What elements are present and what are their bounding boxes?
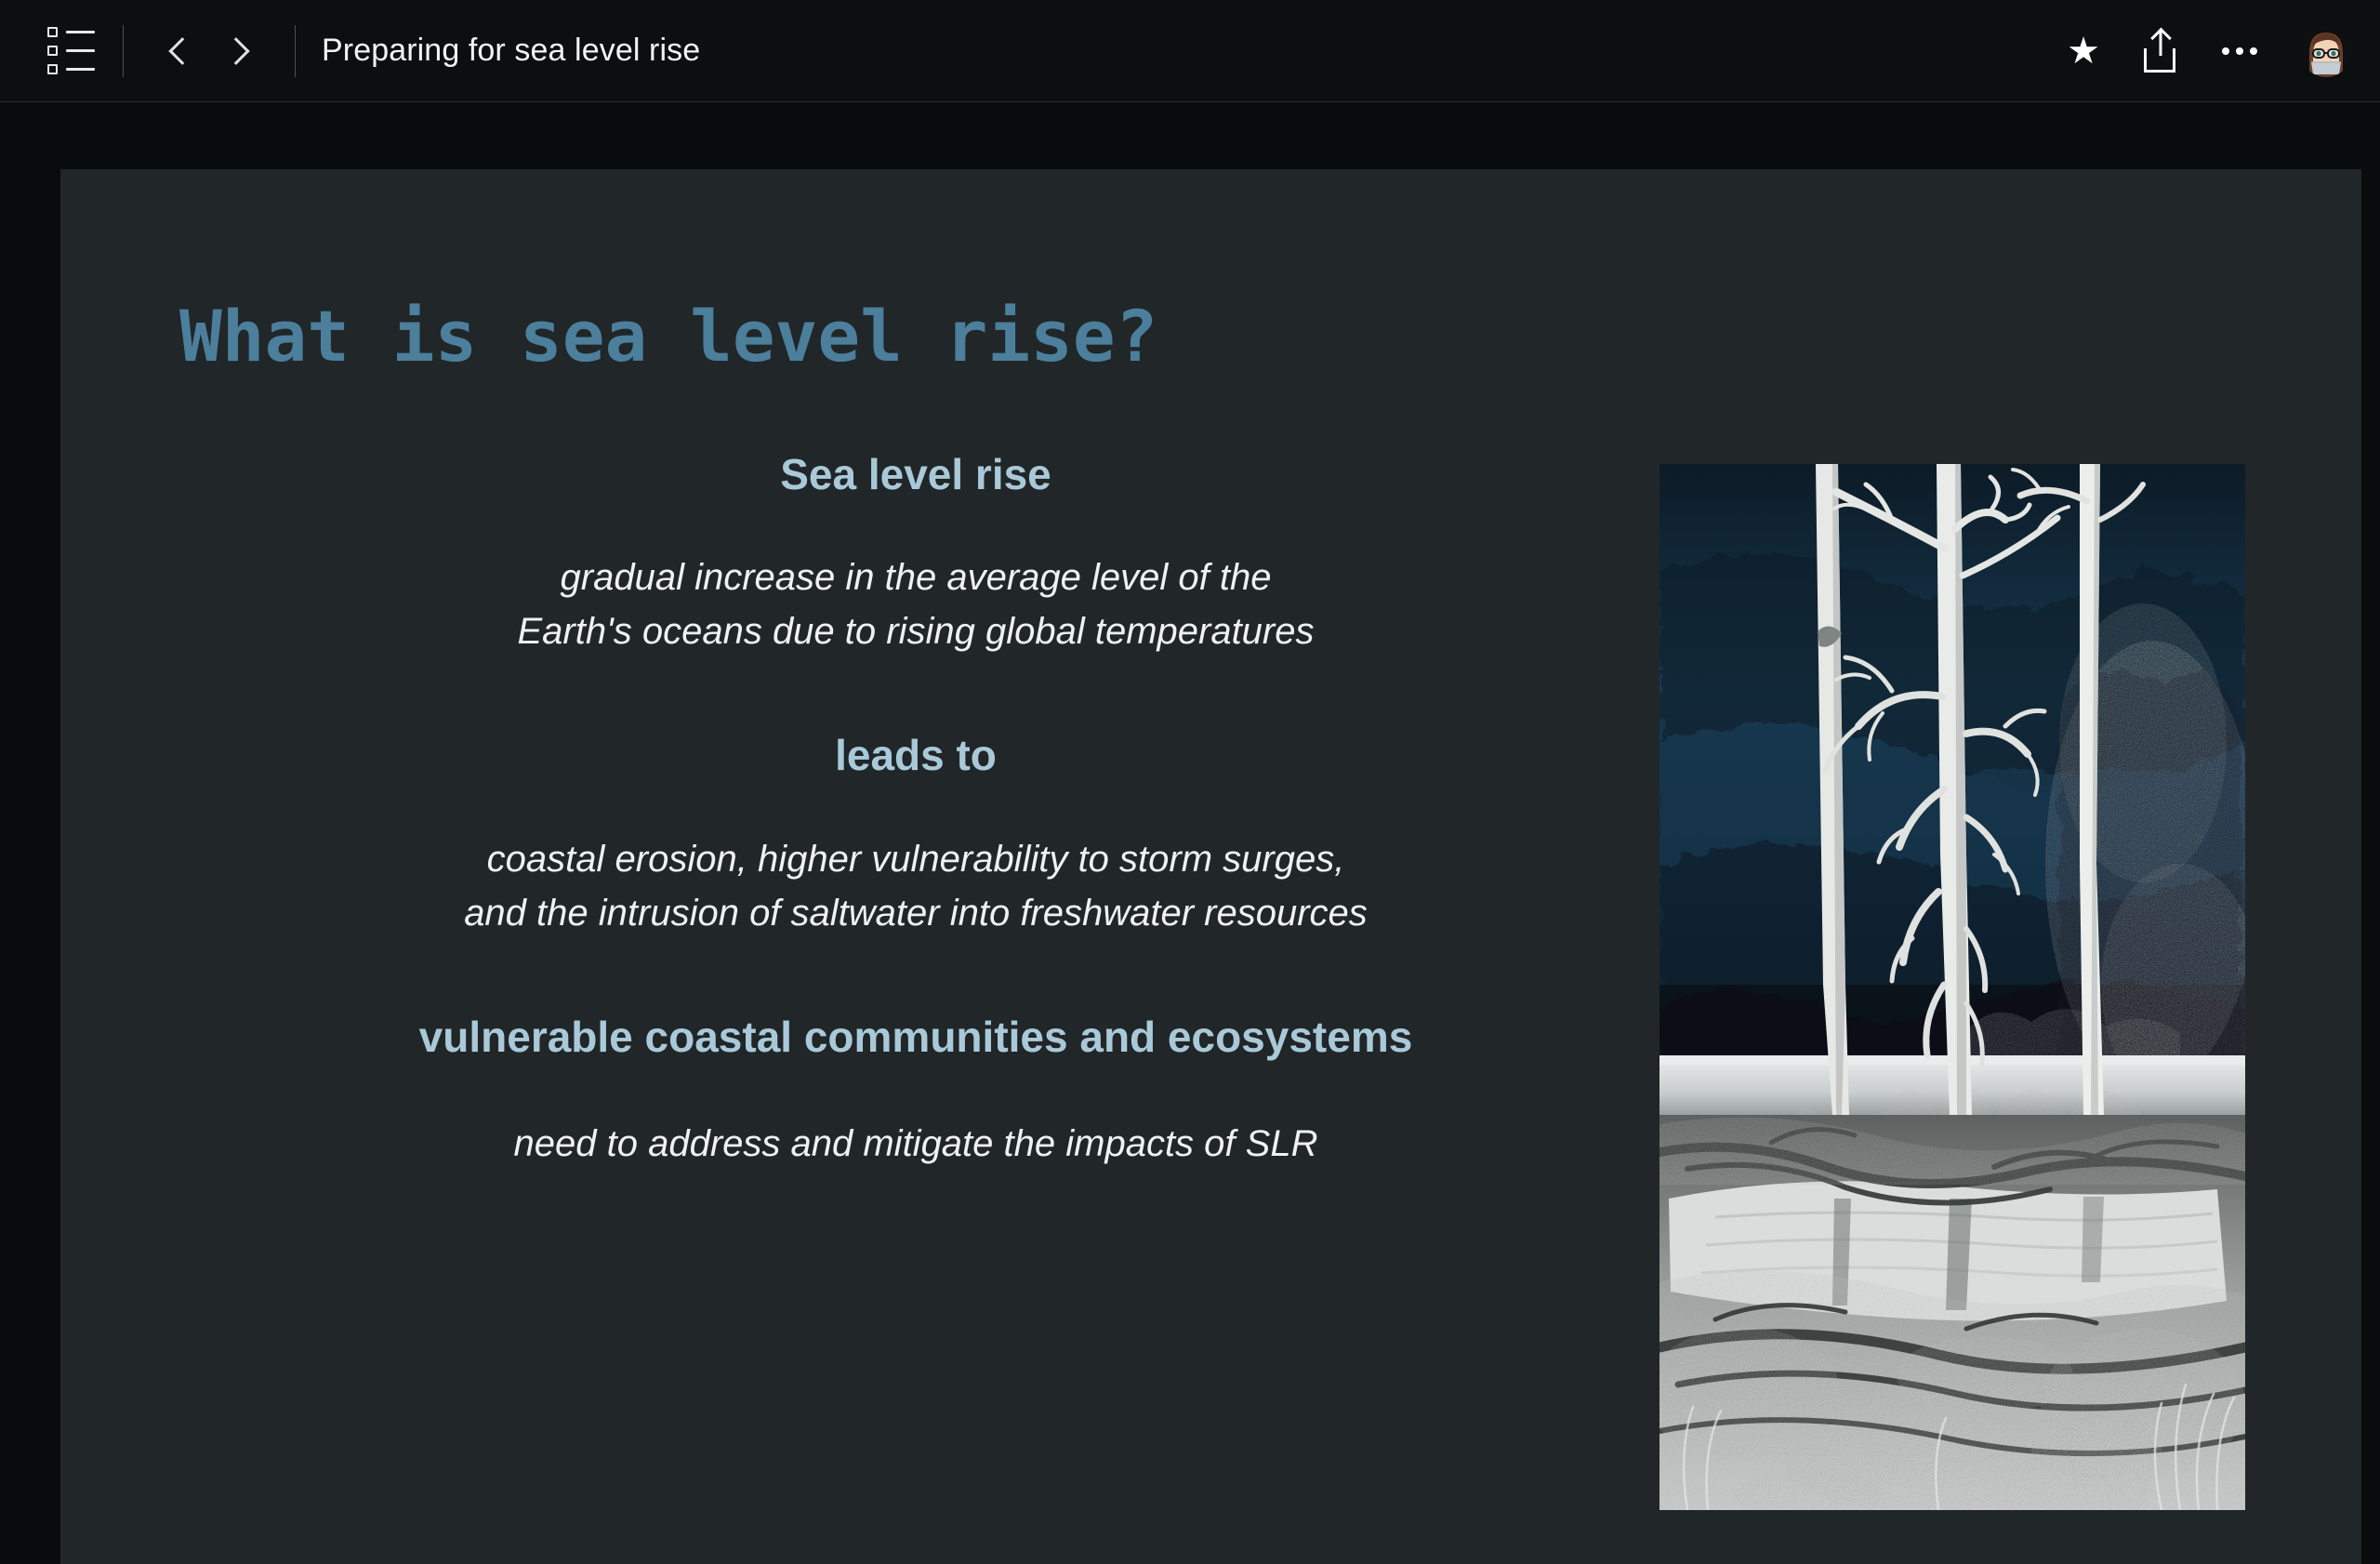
toolbar-divider [295,25,296,77]
body-line-2: Earth's oceans due to rising global temp… [321,604,1511,658]
star-icon[interactable]: ★ [2064,32,2103,71]
accent-heading-2: leads to [321,729,1511,783]
chevron-left-icon[interactable] [150,21,209,81]
list-row [47,27,95,37]
share-upload-icon[interactable] [2142,30,2179,73]
dot [2222,47,2229,55]
body-line-1: gradual increase in the average level of… [321,550,1511,604]
spacer [321,782,1511,832]
spacer [321,1065,1511,1117]
chevron-right-icon[interactable] [209,21,269,81]
outline-list-icon[interactable] [45,25,97,77]
ghost-forest-image [1659,464,2245,1510]
spacer [321,502,1511,550]
star-glyph: ★ [2067,33,2100,70]
list-line [66,31,95,33]
spacer [321,940,1511,1011]
list-line [66,68,95,71]
avatar-art [2300,25,2352,77]
spacer [321,658,1511,729]
user-avatar[interactable] [2300,25,2352,77]
slide-title: What is sea level rise? [179,295,1157,378]
slide-text-column: Sea level rise gradual increase in the a… [321,448,1511,1171]
document-title: Preparing for sea level rise [322,33,700,69]
body-line-5: need to address and mitigate the impacts… [321,1117,1511,1171]
list-row [47,46,95,56]
list-row [47,64,95,74]
list-bullet [47,27,58,37]
list-line [66,49,95,52]
list-bullet [47,64,58,74]
body-line-4: and the intrusion of saltwater into fres… [321,886,1511,940]
slide-canvas[interactable]: What is sea level rise? Sea level rise g… [60,169,2361,1564]
ghost-forest-art [1659,464,2245,1510]
toolbar-divider [123,25,124,77]
more-options-icon[interactable] [2218,33,2261,70]
list-bullet [47,46,58,56]
dot [2236,47,2243,55]
accent-heading-1: Sea level rise [321,448,1511,502]
share-arrow [2160,30,2162,56]
accent-heading-3: vulnerable coastal communities and ecosy… [321,1011,1511,1065]
app-toolbar: Preparing for sea level rise ★ [0,0,2380,102]
dot [2250,47,2257,55]
toolbar-actions: ★ [2025,25,2380,77]
body-line-3: coastal erosion, higher vulnerability to… [321,832,1511,886]
